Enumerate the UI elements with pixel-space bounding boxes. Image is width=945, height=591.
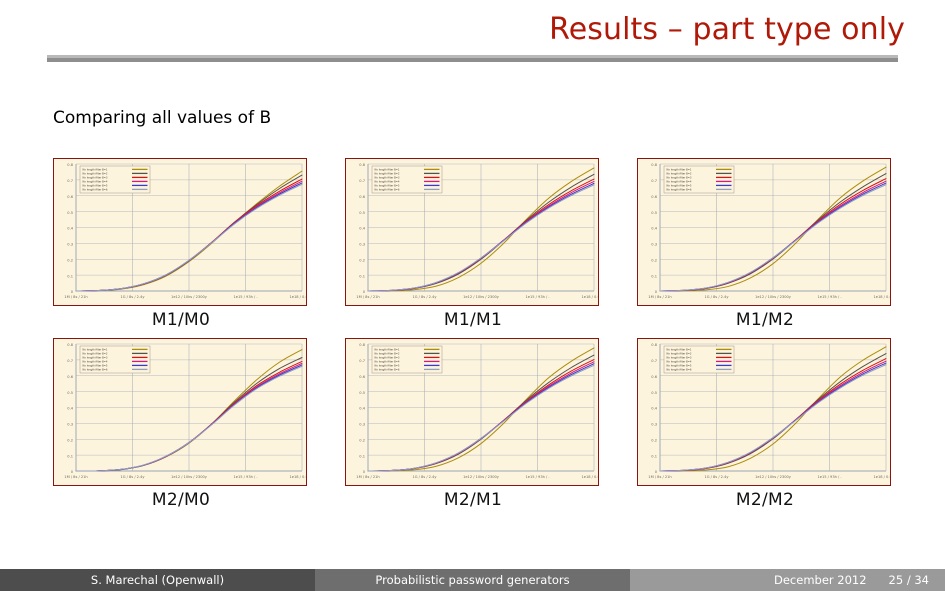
x-axis-tick-label: 1M / 8s / 21h	[64, 475, 87, 479]
chart-frame: 00.10.20.30.40.50.60.70.81M / 8s / 21h1G…	[53, 158, 307, 306]
y-axis-tick-label: 0.2	[651, 438, 657, 442]
footer-date: December 2012	[774, 573, 867, 587]
slide-footer: S. Marechal (Openwall) Probabilistic pas…	[0, 569, 945, 591]
footer-author: S. Marechal (Openwall)	[91, 573, 224, 587]
y-axis-tick-label: 0.6	[651, 195, 657, 199]
legend-entry-label: No length filter B=5	[83, 184, 108, 188]
x-axis-tick-label: 1e18 / 0.9y / .	[873, 475, 891, 479]
legend-entry-label: No length filter B=3	[375, 176, 400, 180]
footer-talk-title: Probabilistic password generators	[375, 573, 569, 587]
y-axis-tick-label: 0.4	[359, 407, 365, 411]
x-axis-tick-label: 1M / 8s / 21h	[648, 475, 671, 479]
y-axis-tick-label: 0.6	[359, 375, 365, 379]
legend-entry-label: No length filter B=2	[83, 352, 108, 356]
legend-entry-label: No length filter B=3	[83, 356, 108, 360]
chart-row: 00.10.20.30.40.50.60.70.81M / 8s / 21h1G…	[53, 338, 893, 510]
x-axis-tick-label: 1e12 / 10ks / 2300y	[171, 475, 208, 479]
y-axis-tick-label: 0.2	[359, 258, 365, 262]
chart-caption: M1/M2	[637, 310, 893, 330]
y-axis-tick-label: 0.5	[651, 211, 657, 215]
x-axis-tick-label: 1e18 / 0.9y / .	[289, 475, 307, 479]
y-axis-tick-label: 0.5	[67, 391, 73, 395]
chart-cell-m2-m1[interactable]: 00.10.20.30.40.50.60.70.81M / 8s / 21h1G…	[345, 338, 601, 510]
legend-entry-label: No length filter B=6	[83, 188, 108, 192]
y-axis-tick-label: 0.3	[359, 243, 365, 247]
x-axis-tick-label: 1G / 8s / 2.4y	[120, 295, 145, 299]
legend-entry-label: No length filter B=1	[83, 168, 108, 172]
chart-row: 00.10.20.30.40.50.60.70.81M / 8s / 21h1G…	[53, 158, 893, 330]
y-axis-tick-label: 0.7	[651, 179, 657, 183]
y-axis-tick-label: 0.2	[67, 438, 73, 442]
chart-plot-m1-m1: 00.10.20.30.40.50.60.70.81M / 8s / 21h1G…	[346, 159, 599, 306]
y-axis-tick-label: 0.2	[359, 438, 365, 442]
y-axis-tick-label: 0.3	[651, 243, 657, 247]
legend-entry-label: No length filter B=4	[667, 180, 692, 184]
x-axis-tick-label: 1e12 / 10ks / 2300y	[463, 475, 500, 479]
y-axis-tick-label: 0.8	[651, 163, 657, 167]
chart-grid: 00.10.20.30.40.50.60.70.81M / 8s / 21h1G…	[53, 158, 893, 518]
y-axis-tick-label: 0.4	[67, 407, 73, 411]
x-axis-tick-label: 1G / 8s / 2.4y	[412, 295, 437, 299]
legend-entry-label: No length filter B=6	[83, 368, 108, 372]
y-axis-tick-label: 0.8	[359, 343, 365, 347]
x-axis-tick-label: 1e12 / 10ks / 2300y	[171, 295, 208, 299]
legend-entry-label: No length filter B=2	[375, 352, 400, 356]
legend-entry-label: No length filter B=5	[375, 184, 400, 188]
y-axis-tick-label: 0.5	[359, 211, 365, 215]
y-axis-tick-label: 0.4	[359, 227, 365, 231]
footer-page-number: 25 / 34	[889, 573, 929, 587]
page-title: Results – part type only	[0, 12, 905, 47]
x-axis-tick-label: 1e15 / 93h / .	[525, 295, 549, 299]
x-axis-tick-label: 1e12 / 10ks / 2300y	[755, 475, 792, 479]
y-axis-tick-label: 0.7	[651, 359, 657, 363]
x-axis-tick-label: 1M / 8s / 21h	[648, 295, 671, 299]
legend-entry-label: No length filter B=4	[83, 360, 108, 364]
legend-entry-label: No length filter B=6	[667, 368, 692, 372]
x-axis-tick-label: 1G / 8s / 2.4y	[704, 475, 729, 479]
chart-plot-m2-m2: 00.10.20.30.40.50.60.70.81M / 8s / 21h1G…	[638, 339, 891, 486]
x-axis-tick-label: 1e12 / 10ks / 2300y	[755, 295, 792, 299]
footer-talk-segment: Probabilistic password generators	[315, 569, 630, 591]
legend-entry-label: No length filter B=5	[83, 364, 108, 368]
x-axis-tick-label: 1G / 8s / 2.4y	[412, 475, 437, 479]
chart-plot-m1-m2: 00.10.20.30.40.50.60.70.81M / 8s / 21h1G…	[638, 159, 891, 306]
x-axis-tick-label: 1M / 8s / 21h	[356, 475, 379, 479]
legend-entry-label: No length filter B=1	[375, 168, 400, 172]
legend-entry-label: No length filter B=3	[83, 176, 108, 180]
legend-entry-label: No length filter B=2	[667, 172, 692, 176]
chart-caption: M2/M1	[345, 490, 601, 510]
y-axis-tick-label: 0.7	[67, 179, 73, 183]
title-divider	[47, 55, 898, 62]
x-axis-tick-label: 1e15 / 93h / .	[817, 475, 841, 479]
x-axis-tick-label: 1e15 / 93h / .	[233, 295, 257, 299]
legend-entry-label: No length filter B=4	[667, 360, 692, 364]
y-axis-tick-label: 0.3	[651, 423, 657, 427]
chart-cell-m1-m2[interactable]: 00.10.20.30.40.50.60.70.81M / 8s / 21h1G…	[637, 158, 893, 330]
y-axis-tick-label: 0.4	[651, 407, 657, 411]
subtitle-text: Comparing all values of B	[53, 108, 271, 128]
y-axis-tick-label: 0.8	[359, 163, 365, 167]
x-axis-tick-label: 1e18 / 0.9y / .	[581, 295, 599, 299]
legend-entry-label: No length filter B=3	[375, 356, 400, 360]
y-axis-tick-label: 0.7	[67, 359, 73, 363]
y-axis-tick-label: 0.4	[651, 227, 657, 231]
x-axis-tick-label: 1e15 / 93h / .	[525, 475, 549, 479]
legend-entry-label: No length filter B=2	[667, 352, 692, 356]
x-axis-tick-label: 1G / 8s / 2.4y	[120, 475, 145, 479]
y-axis-tick-label: 0.1	[67, 454, 73, 458]
y-axis-tick-label: 0.3	[359, 423, 365, 427]
y-axis-tick-label: 0.1	[359, 454, 365, 458]
y-axis-tick-label: 0.5	[651, 391, 657, 395]
y-axis-tick-label: 0.1	[651, 274, 657, 278]
x-axis-tick-label: 1M / 8s / 21h	[64, 295, 87, 299]
chart-cell-m1-m1[interactable]: 00.10.20.30.40.50.60.70.81M / 8s / 21h1G…	[345, 158, 601, 330]
chart-plot-m2-m0: 00.10.20.30.40.50.60.70.81M / 8s / 21h1G…	[54, 339, 307, 486]
y-axis-tick-label: 0.2	[651, 258, 657, 262]
x-axis-tick-label: 1e18 / 0.9y / .	[581, 475, 599, 479]
y-axis-tick-label: 0.8	[67, 343, 73, 347]
y-axis-tick-label: 0.7	[359, 359, 365, 363]
legend-entry-label: No length filter B=6	[667, 188, 692, 192]
chart-cell-m2-m0[interactable]: 00.10.20.30.40.50.60.70.81M / 8s / 21h1G…	[53, 338, 309, 510]
chart-caption: M1/M0	[53, 310, 309, 330]
chart-cell-m1-m0[interactable]: 00.10.20.30.40.50.60.70.81M / 8s / 21h1G…	[53, 158, 309, 330]
legend-entry-label: No length filter B=5	[375, 364, 400, 368]
y-axis-tick-label: 0.1	[359, 274, 365, 278]
legend-entry-label: No length filter B=5	[667, 364, 692, 368]
y-axis-tick-label: 0.7	[359, 179, 365, 183]
x-axis-tick-label: 1e15 / 93h / .	[233, 475, 257, 479]
footer-author-segment: S. Marechal (Openwall)	[0, 569, 315, 591]
chart-caption: M1/M1	[345, 310, 601, 330]
legend-entry-label: No length filter B=6	[375, 368, 400, 372]
legend-entry-label: No length filter B=1	[83, 348, 108, 352]
chart-frame: 00.10.20.30.40.50.60.70.81M / 8s / 21h1G…	[637, 158, 891, 306]
footer-meta-segment: December 2012 25 / 34	[630, 569, 945, 591]
legend-entry-label: No length filter B=1	[667, 168, 692, 172]
y-axis-tick-label: 0.1	[67, 274, 73, 278]
y-axis-tick-label: 0.6	[67, 375, 73, 379]
legend-entry-label: No length filter B=1	[375, 348, 400, 352]
legend-entry-label: No length filter B=4	[375, 360, 400, 364]
chart-frame: 00.10.20.30.40.50.60.70.81M / 8s / 21h1G…	[345, 158, 599, 306]
y-axis-tick-label: 0.8	[651, 343, 657, 347]
x-axis-tick-label: 1e15 / 93h / .	[817, 295, 841, 299]
chart-caption: M2/M0	[53, 490, 309, 510]
chart-frame: 00.10.20.30.40.50.60.70.81M / 8s / 21h1G…	[53, 338, 307, 486]
chart-frame: 00.10.20.30.40.50.60.70.81M / 8s / 21h1G…	[637, 338, 891, 486]
y-axis-tick-label: 0.6	[651, 375, 657, 379]
legend-entry-label: No length filter B=5	[667, 184, 692, 188]
x-axis-tick-label: 1e18 / 0.9y / .	[873, 295, 891, 299]
x-axis-tick-label: 1G / 8s / 2.4y	[704, 295, 729, 299]
chart-cell-m2-m2[interactable]: 00.10.20.30.40.50.60.70.81M / 8s / 21h1G…	[637, 338, 893, 510]
chart-frame: 00.10.20.30.40.50.60.70.81M / 8s / 21h1G…	[345, 338, 599, 486]
legend-entry-label: No length filter B=3	[667, 356, 692, 360]
y-axis-tick-label: 0.8	[67, 163, 73, 167]
x-axis-tick-label: 1M / 8s / 21h	[356, 295, 379, 299]
y-axis-tick-label: 0.1	[651, 454, 657, 458]
y-axis-tick-label: 0.3	[67, 423, 73, 427]
y-axis-tick-label: 0.6	[359, 195, 365, 199]
y-axis-tick-label: 0.5	[359, 391, 365, 395]
legend-entry-label: No length filter B=1	[667, 348, 692, 352]
legend-entry-label: No length filter B=3	[667, 176, 692, 180]
legend-entry-label: No length filter B=2	[83, 172, 108, 176]
chart-caption: M2/M2	[637, 490, 893, 510]
x-axis-tick-label: 1e12 / 10ks / 2300y	[463, 295, 500, 299]
y-axis-tick-label: 0.3	[67, 243, 73, 247]
legend-entry-label: No length filter B=4	[375, 180, 400, 184]
legend-entry-label: No length filter B=2	[375, 172, 400, 176]
legend-entry-label: No length filter B=6	[375, 188, 400, 192]
y-axis-tick-label: 0.2	[67, 258, 73, 262]
y-axis-tick-label: 0.6	[67, 195, 73, 199]
chart-plot-m1-m0: 00.10.20.30.40.50.60.70.81M / 8s / 21h1G…	[54, 159, 307, 306]
chart-plot-m2-m1: 00.10.20.30.40.50.60.70.81M / 8s / 21h1G…	[346, 339, 599, 486]
y-axis-tick-label: 0.5	[67, 211, 73, 215]
y-axis-tick-label: 0.4	[67, 227, 73, 231]
legend-entry-label: No length filter B=4	[83, 180, 108, 184]
x-axis-tick-label: 1e18 / 0.9y / .	[289, 295, 307, 299]
